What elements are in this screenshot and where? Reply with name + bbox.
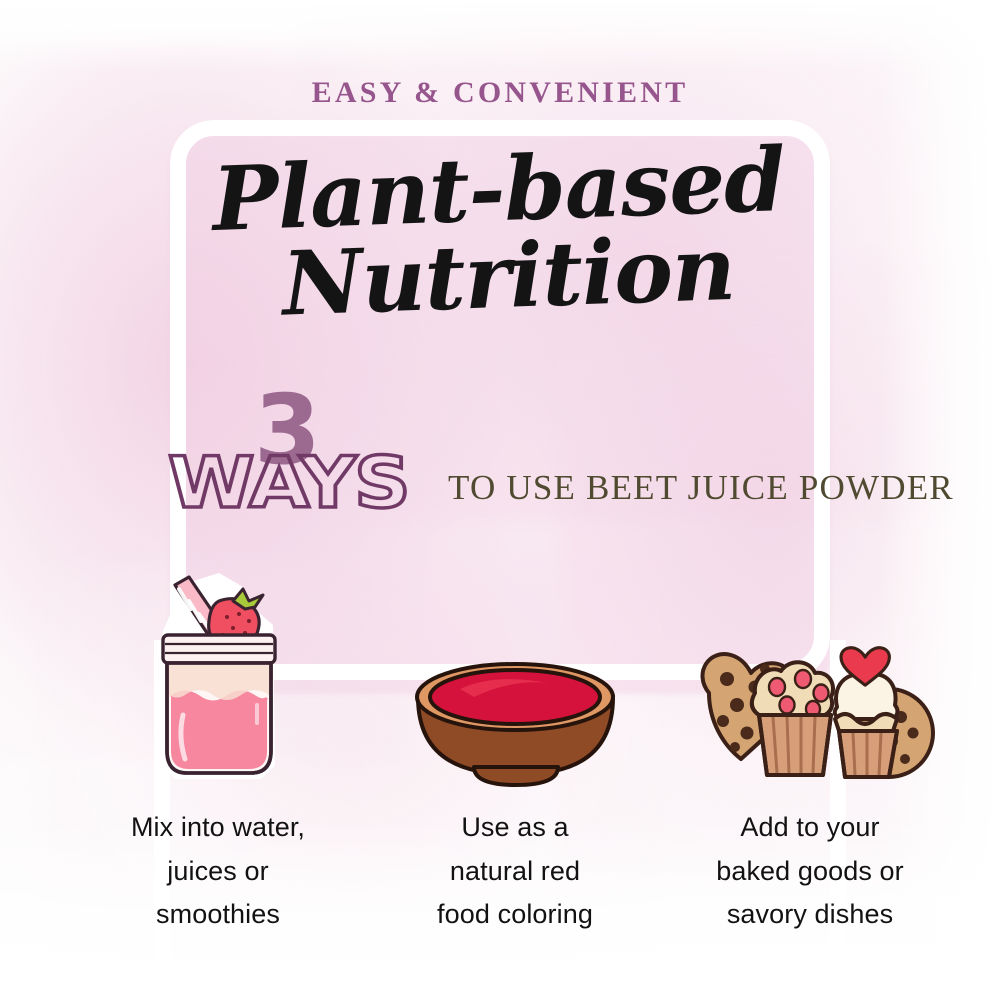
caption-baked-goods: Add to your baked goods or savory dishes	[660, 806, 960, 937]
column-baked-goods: Add to your baked goods or savory dishes	[660, 560, 960, 937]
caption-line: Mix into water,	[68, 806, 368, 850]
food-coloring-bowl-art	[365, 560, 665, 790]
ways-lockup: 3 WAYS	[168, 386, 428, 516]
caption-smoothie: Mix into water, juices or smoothies	[68, 806, 368, 937]
page-title: Plant-based Nutrition	[177, 135, 823, 331]
caption-line: juices or	[68, 850, 368, 894]
food-coloring-bowl-icon	[408, 655, 623, 790]
background-fade-top	[0, 0, 1000, 70]
smoothie-jar-art	[68, 560, 368, 790]
subject-line: TO USE BEET JUICE POWDER	[448, 468, 954, 508]
caption-line: natural red	[365, 850, 665, 894]
ways-word: WAYS	[168, 448, 408, 518]
caption-food-coloring: Use as a natural red food coloring	[365, 806, 665, 937]
caption-line: food coloring	[365, 893, 665, 937]
baked-goods-icon	[685, 635, 935, 790]
smoothie-jar-icon	[123, 565, 313, 790]
title-line-2: Nutrition	[194, 222, 823, 331]
column-food-coloring: Use as a natural red food coloring	[365, 560, 665, 937]
caption-line: Use as a	[365, 806, 665, 850]
poster-canvas: EASY & CONVENIENT Plant-based Nutrition …	[0, 0, 1000, 1000]
eyebrow-text: EASY & CONVENIENT	[0, 76, 1000, 110]
caption-line: baked goods or	[660, 850, 960, 894]
caption-line: Add to your	[660, 806, 960, 850]
column-smoothie: Mix into water, juices or smoothies	[68, 560, 368, 937]
caption-line: savory dishes	[660, 893, 960, 937]
baked-goods-art	[660, 560, 960, 790]
caption-line: smoothies	[68, 893, 368, 937]
